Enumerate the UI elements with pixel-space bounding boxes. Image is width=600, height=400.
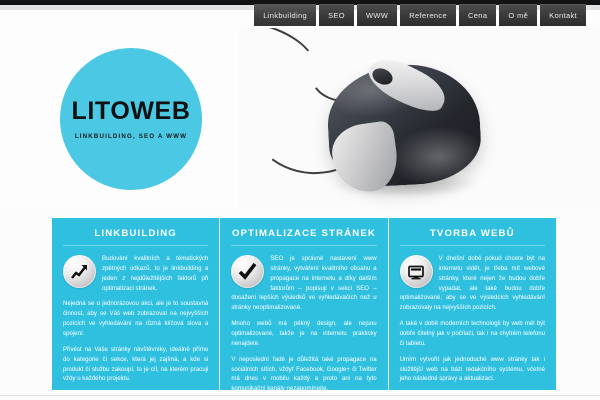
nav-item-linkbuilding[interactable]: Linkbuilding [254,4,316,26]
column-title: OPTIMALIZACE STRÁNEK [231,228,376,246]
main-navigation: Linkbuilding SEO WWW Reference Cena O mě… [254,4,586,26]
column-paragraph: V neposlední řadě je důležitá také propa… [231,355,376,394]
services-panel: LINKBUILDING Budování kvalitních a témat… [52,218,556,390]
column-body: SEO je správné nastavení www stránky, vy… [231,254,376,394]
column-title: TVORBA WEBŮ [400,228,545,246]
footer-divider [0,395,600,396]
nav-item-o-me[interactable]: O mě [499,4,537,26]
hero-section: LITOWEB LINKBUILDING, SEO A WWW [0,10,600,210]
logo-title: LITOWEB [71,99,190,124]
logo-tagline: LINKBUILDING, SEO A WWW [75,133,187,140]
service-column-optimalizace: OPTIMALIZACE STRÁNEK SEO je správné nast… [219,218,387,390]
column-title: LINKBUILDING [63,228,208,246]
column-paragraph: A také v době moderních technologií by w… [400,319,545,349]
service-column-linkbuilding: LINKBUILDING Budování kvalitních a témat… [52,218,219,390]
nav-item-www[interactable]: WWW [357,4,397,26]
column-paragraph: Umím vytvořit jak jednoduché www stránky… [400,355,545,385]
column-body: Budování kvalitních a tématických zpětný… [63,254,208,384]
chart-up-arrow-icon [63,255,96,288]
column-body: V dnešní době pokud chcete být na intern… [400,254,545,384]
service-column-tvorba-webu: TVORBA WEBŮ V dnešní době pokud chcete b… [388,218,556,390]
column-paragraph: Nejedná se o jednorázovou akci, ale je t… [63,299,208,338]
nav-item-reference[interactable]: Reference [400,4,456,26]
nav-item-kontakt[interactable]: Kontakt [540,4,586,26]
monitor-icon [400,255,433,288]
page-root: LITOWEB LINKBUILDING, SEO A WWW Linkbuil… [0,0,600,400]
site-logo[interactable]: LITOWEB LINKBUILDING, SEO A WWW [60,48,202,190]
column-paragraph: Mnoho webů má pěkný design, ale nejsou o… [231,319,376,349]
column-paragraph: Přivést na Vaše stránky návštěvníky, ide… [63,345,208,384]
nav-item-cena[interactable]: Cena [459,4,496,26]
nav-item-seo[interactable]: SEO [319,4,354,26]
computer-mouse-photo [238,28,600,210]
